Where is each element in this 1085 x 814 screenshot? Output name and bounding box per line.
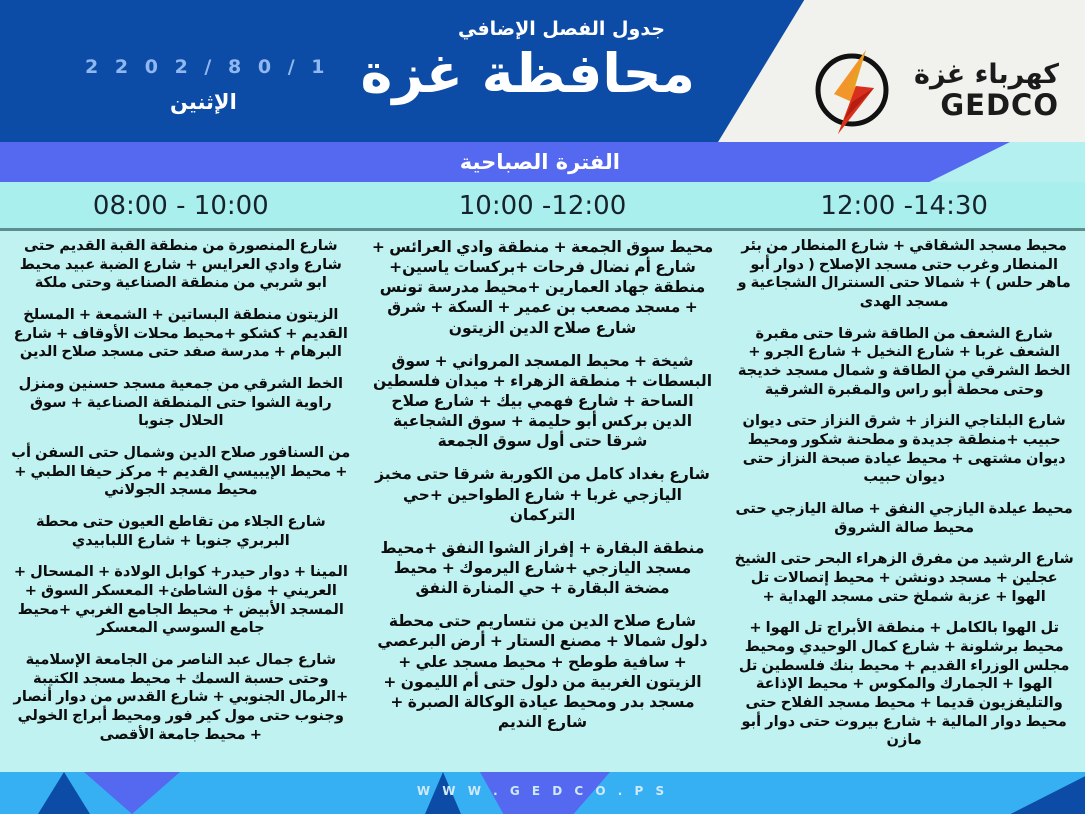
area-block: شارع البلتاجي النزاز + شرق النزاز حتى دي…	[733, 412, 1075, 487]
area-block: المينا + دوار حيدر+ كوابل الولادة + المس…	[10, 563, 352, 638]
brand-logo: كهرباء غزة GEDCO	[804, 42, 1059, 138]
website-url: W W W . G E D C O . P S	[0, 784, 1085, 798]
area-block: شيخة + محيط المسجد المرواني + سوق البسطا…	[372, 351, 714, 452]
area-block: شارع جمال عبد الناصر من الجامعة الإسلامي…	[10, 651, 352, 744]
area-block: شارع بغداد كامل من الكوربة شرقا حتى مخبز…	[372, 464, 714, 524]
area-block: محيط مسجد الشقاقي + شارع المنطار من بئر …	[733, 237, 1075, 312]
brand-text: كهرباء غزة GEDCO	[914, 61, 1059, 120]
time-header-col1: 14:30- 12:00	[723, 182, 1085, 230]
header-subtitle: جدول الفصل الإضافي	[458, 18, 665, 40]
area-block: شارع المنصورة من منطقة القبة القديم حتى …	[10, 237, 352, 293]
area-block: محيط سوق الجمعة + منطقة وادي العرائس + ش…	[372, 237, 714, 338]
schedule-date: 1 / 0 8 / 2 0 2 2	[85, 56, 329, 78]
schedule-column-1200-1000: محيط سوق الجمعة + منطقة وادي العرائس + ش…	[362, 231, 724, 772]
lightning-bolt-icon	[804, 42, 900, 138]
page-title: محافظة غزة	[361, 42, 696, 105]
area-block: الخط الشرقي من جمعية مسجد حسنين ومنزل را…	[10, 375, 352, 431]
area-block: شارع الشعف من الطاقة شرقا حتى مقبرة الشع…	[733, 325, 1075, 400]
schedule-column-1000-0800: شارع المنصورة من منطقة القبة القديم حتى …	[0, 231, 362, 772]
footer-bar: W W W . G E D C O . P S	[0, 772, 1085, 814]
area-block: شارع الرشيد من مفرق الزهراء البحر حتى ال…	[733, 550, 1075, 606]
area-block: شارع صلاح الدين من نتساريم حتى محطة دلول…	[372, 611, 714, 732]
period-band: الفترة الصباحية	[0, 142, 1085, 182]
header-bar: جدول الفصل الإضافي محافظة غزة 1 / 0 8 / …	[0, 0, 1085, 142]
area-block: محيط عيلدة اليازجي النفق + صالة اليازجي …	[733, 500, 1075, 537]
area-block: منطقة البقارة + إفراز الشوا النفق +محيط …	[372, 538, 714, 598]
schedule-column-1430-1200: محيط مسجد الشقاقي + شارع المنطار من بئر …	[723, 231, 1085, 772]
schedule-day: الإثنين	[170, 90, 237, 114]
area-block: تل الهوا بالكامل + منطقة الأبراج تل الهو…	[733, 619, 1075, 750]
schedule-infographic: جدول الفصل الإضافي محافظة غزة 1 / 0 8 / …	[0, 0, 1085, 814]
period-label: الفترة الصباحية	[460, 150, 620, 174]
brand-name-arabic: كهرباء غزة	[914, 61, 1059, 88]
brand-name-english: GEDCO	[940, 91, 1059, 120]
area-block: شارع الجلاء من تقاطع العيون حتى محطة الب…	[10, 513, 352, 550]
area-block: من السنافور صلاح الدين وشمال حتى السفن أ…	[10, 444, 352, 500]
time-header-row: 14:30- 12:00 12:00- 10:00 10:00 - 08:00	[0, 182, 1085, 230]
time-header-col3: 10:00 - 08:00	[0, 182, 362, 230]
area-block: الزيتون منطقة البساتين + الشمعة + المسلخ…	[10, 306, 352, 362]
schedule-grid: محيط مسجد الشقاقي + شارع المنطار من بئر …	[0, 231, 1085, 772]
time-header-col2: 12:00- 10:00	[362, 182, 724, 230]
